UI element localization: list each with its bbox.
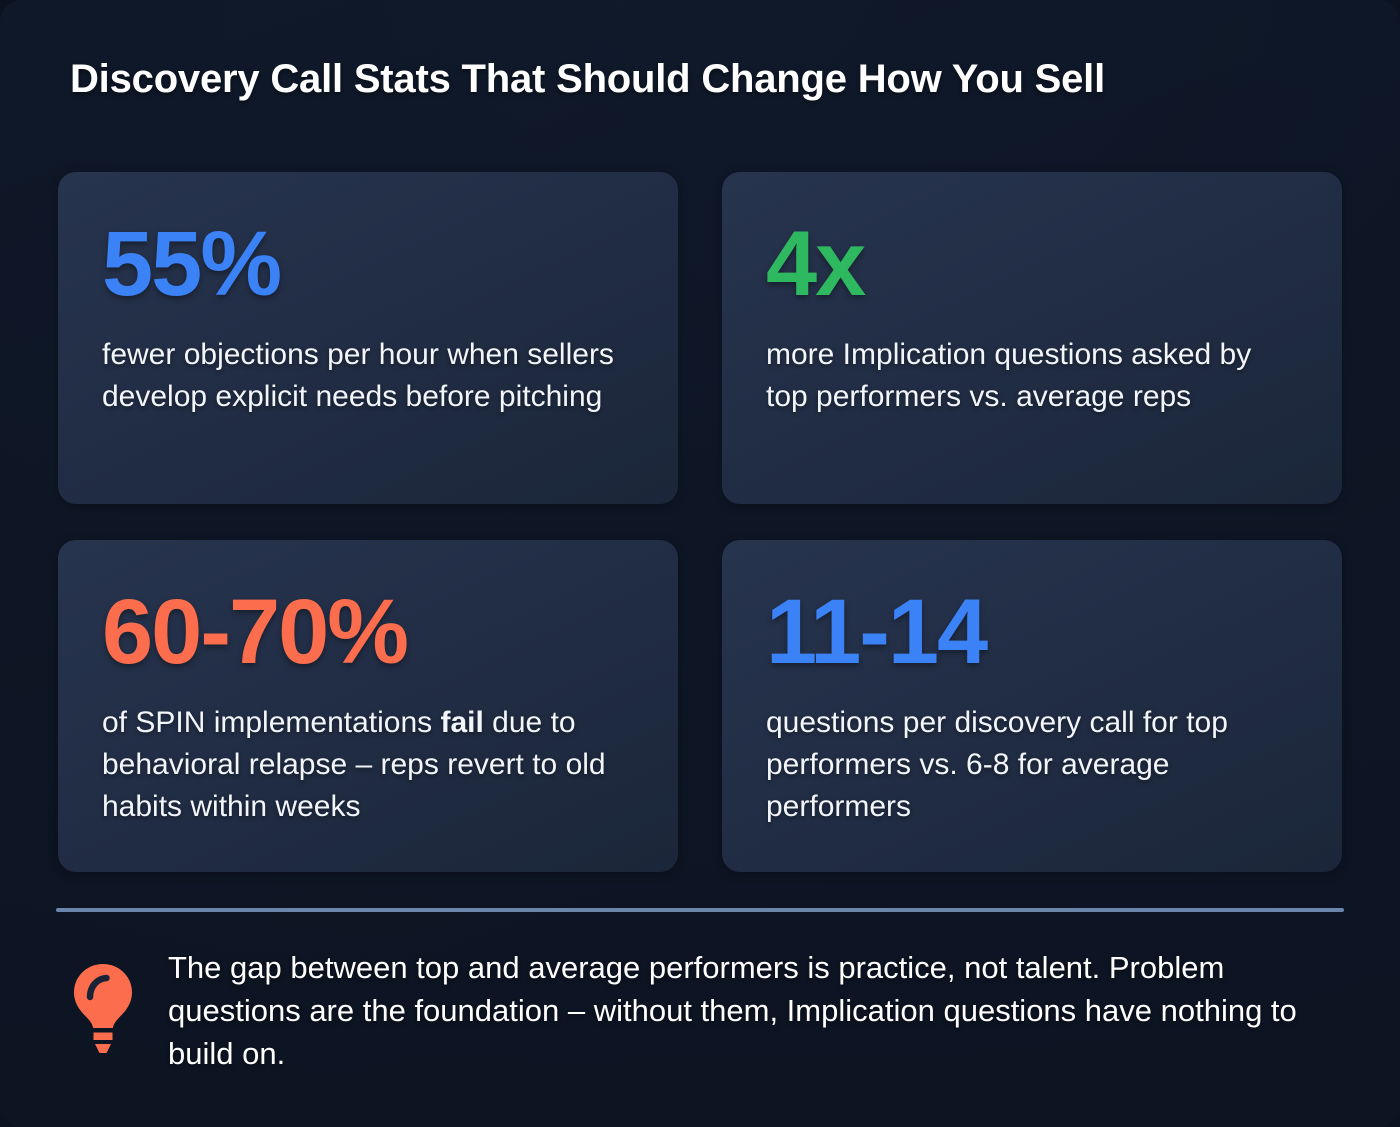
lightbulb-icon: [72, 962, 134, 1054]
stat-description: of SPIN implementations fail due to beha…: [102, 702, 636, 828]
stat-description-text: of SPIN implementations: [102, 706, 440, 739]
stat-value: 60-70%: [102, 584, 636, 680]
stat-description-text: questions per discovery call for top per…: [766, 706, 1228, 823]
stat-card: 55% fewer objections per hour when selle…: [58, 172, 678, 504]
stat-description-text: more Implication questions asked by top …: [766, 338, 1251, 413]
stat-description: questions per discovery call for top per…: [766, 702, 1300, 828]
stat-value: 11-14: [766, 584, 1300, 680]
stat-description: fewer objections per hour when sellers d…: [102, 334, 636, 418]
stat-value: 55%: [102, 216, 636, 312]
stat-card: 4x more Implication questions asked by t…: [722, 172, 1342, 504]
page-title: Discovery Call Stats That Should Change …: [70, 54, 1360, 104]
stat-card: 11-14 questions per discovery call for t…: [722, 540, 1342, 872]
footer-text: The gap between top and average performe…: [168, 946, 1298, 1075]
section-divider: [56, 908, 1344, 912]
stat-description-emphasis: fail: [440, 706, 483, 739]
stat-card: 60-70% of SPIN implementations fail due …: [58, 540, 678, 872]
footer-callout: The gap between top and average performe…: [58, 946, 1348, 1075]
stat-description-text: fewer objections per hour when sellers d…: [102, 338, 614, 413]
stat-value: 4x: [766, 216, 1300, 312]
infographic-container: Discovery Call Stats That Should Change …: [0, 0, 1400, 1127]
stat-card-grid: 55% fewer objections per hour when selle…: [58, 172, 1342, 872]
stat-description: more Implication questions asked by top …: [766, 334, 1300, 418]
